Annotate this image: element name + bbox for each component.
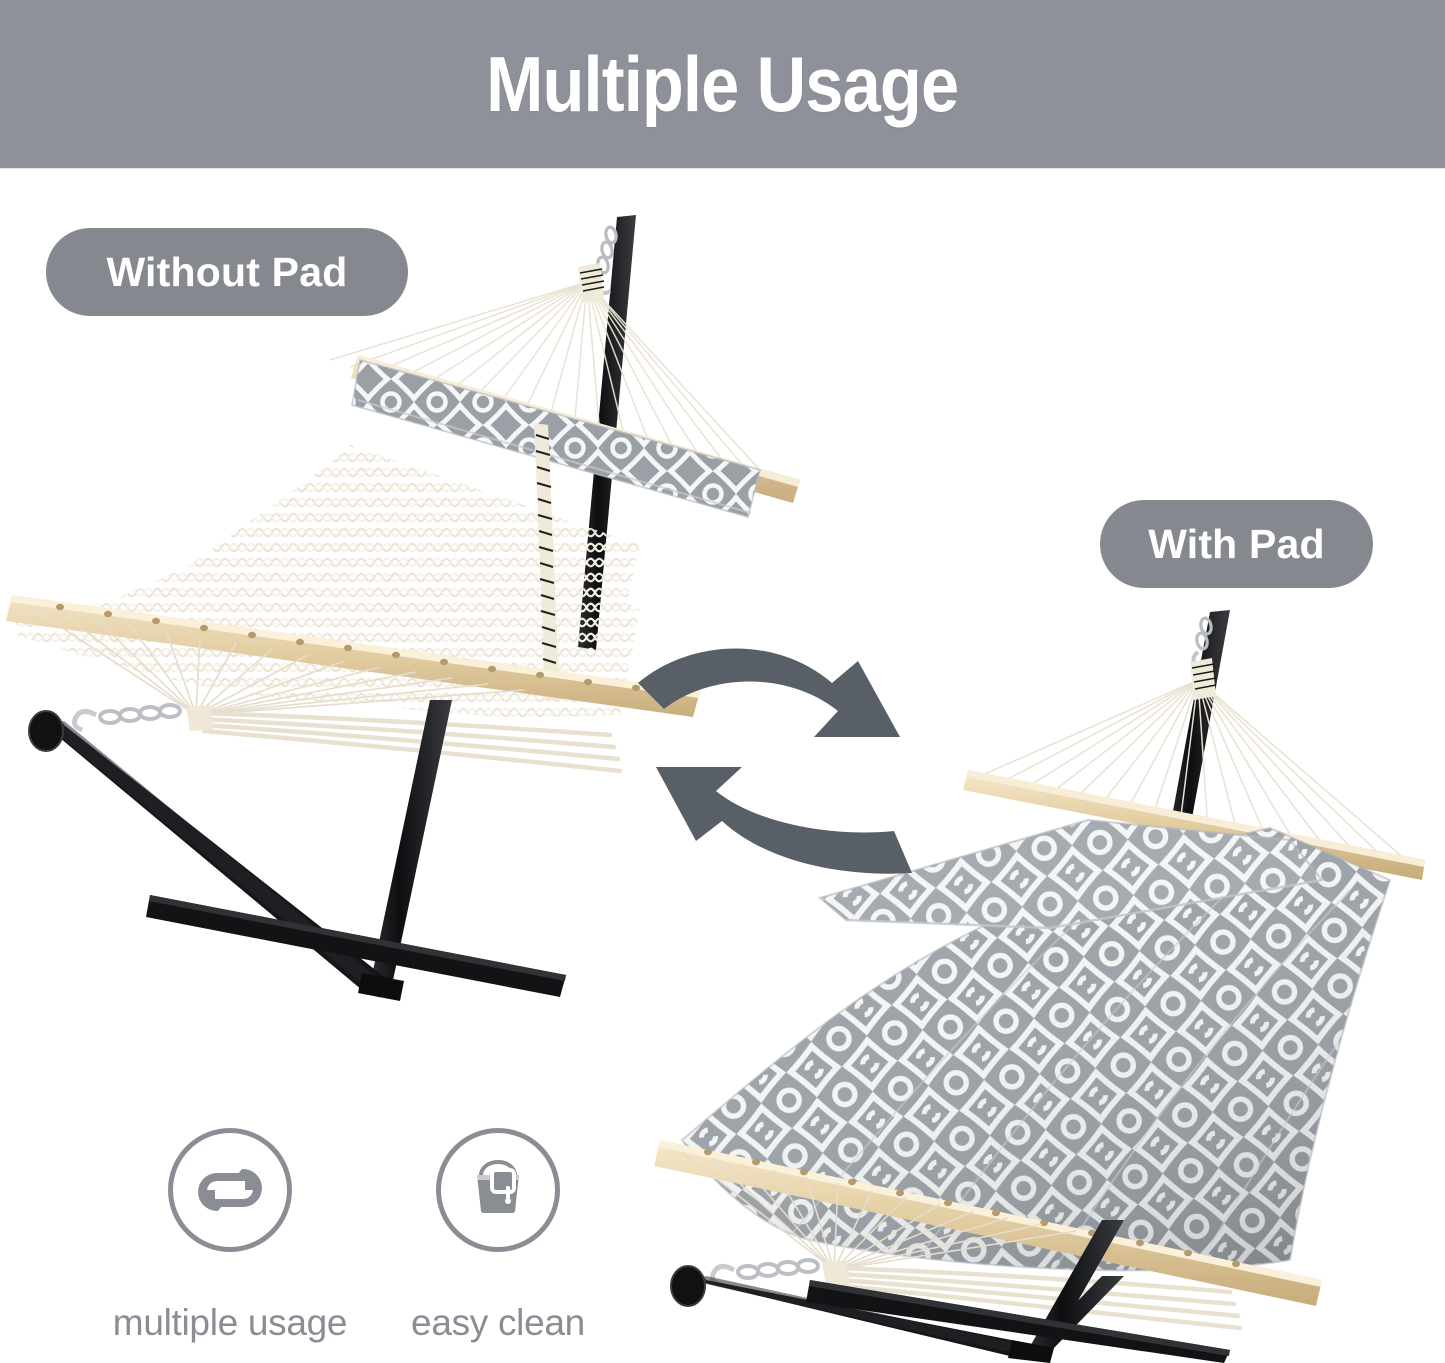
header-banner: Multiple Usage	[0, 0, 1445, 168]
recycle-loop-icon	[193, 1153, 267, 1227]
feature-multiple-usage: multiple usage	[100, 1128, 360, 1344]
rope-collar-left	[186, 705, 214, 731]
rope-whipping-right	[1190, 658, 1216, 700]
badge-with-pad-label: With Pad	[1148, 521, 1325, 568]
rope-collar-right-scene	[822, 1260, 850, 1286]
feature-icon-circle	[168, 1128, 292, 1252]
conversion-arrows	[600, 625, 950, 875]
feature-label: multiple usage	[113, 1302, 347, 1344]
product-scene-without-pad	[0, 195, 730, 1025]
curved-arrow-left	[656, 767, 912, 874]
curved-arrow-right	[638, 648, 900, 737]
badge-with-pad: With Pad	[1100, 500, 1373, 588]
feature-easy-clean: easy clean	[368, 1128, 628, 1344]
infographic-canvas: Multiple Usage	[0, 0, 1445, 1363]
page-title: Multiple Usage	[486, 45, 958, 123]
badge-without-pad: Without Pad	[46, 228, 408, 316]
feature-label: easy clean	[411, 1302, 585, 1344]
bucket-clean-icon	[461, 1153, 535, 1227]
feature-icon-circle	[436, 1128, 560, 1252]
badge-without-pad-label: Without Pad	[107, 249, 348, 296]
rope-whipping-top	[578, 263, 604, 303]
suspension-chain-left	[74, 705, 180, 730]
feature-list: multiple usage easy clean	[100, 1128, 660, 1363]
